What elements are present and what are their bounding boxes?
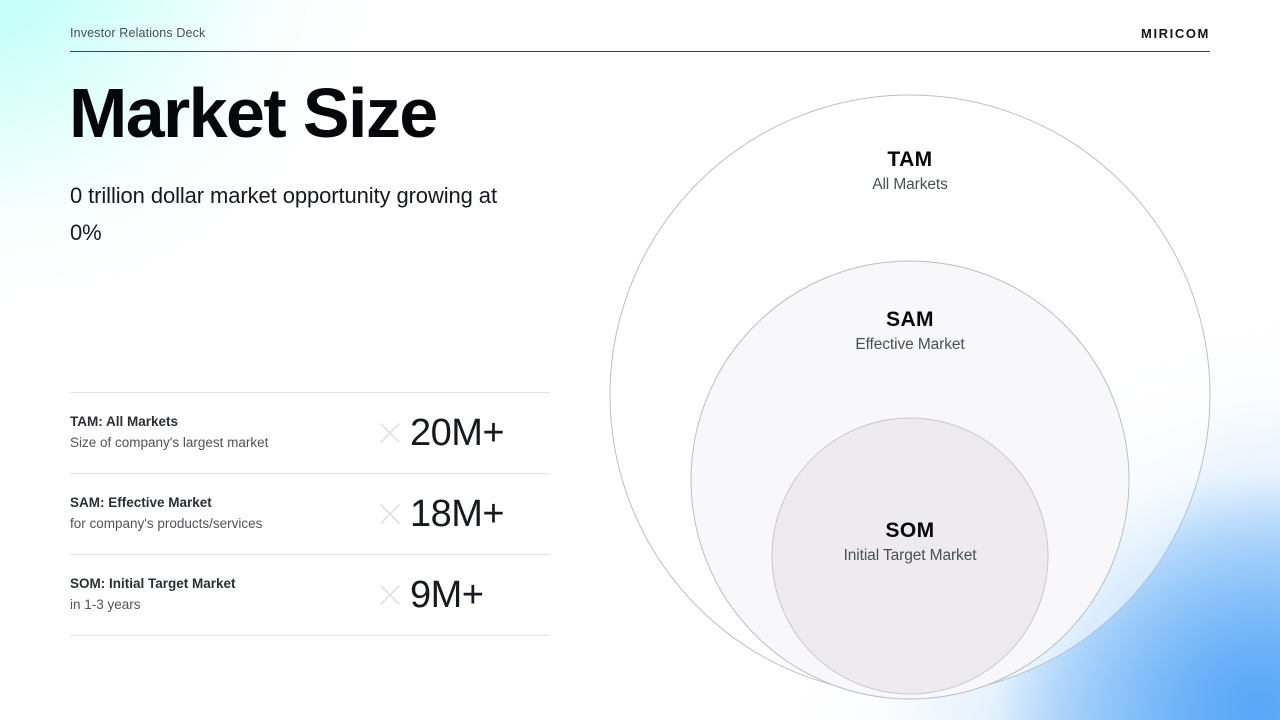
metric-value: 9M+ <box>410 576 483 614</box>
metric-label: TAM: All Markets <box>70 412 370 433</box>
metric-sublabel: Size of company's largest market <box>70 433 370 454</box>
slide-header: Investor Relations Deck MIRICOM <box>70 26 1210 54</box>
tam-label-group: TAM All Markets <box>750 146 1070 197</box>
tam-subtitle: All Markets <box>750 174 1070 196</box>
table-row: SOM: Initial Target Market in 1-3 years … <box>70 555 550 635</box>
metric-sublabel: in 1-3 years <box>70 595 370 616</box>
som-subtitle: Initial Target Market <box>750 545 1070 567</box>
metric-label: SAM: Effective Market <box>70 493 370 514</box>
metric-divider <box>70 635 550 636</box>
sam-title: SAM <box>750 306 1070 334</box>
multiply-icon <box>370 501 410 527</box>
market-size-diagram: TAM All Markets SAM Effective Market SOM… <box>592 56 1232 720</box>
multiply-icon <box>370 582 410 608</box>
som-label-group: SOM Initial Target Market <box>750 517 1070 568</box>
sam-subtitle: Effective Market <box>750 334 1070 356</box>
metric-text-group: SOM: Initial Target Market in 1-3 years <box>70 574 370 616</box>
table-row: SAM: Effective Market for company's prod… <box>70 474 550 554</box>
metric-text-group: SAM: Effective Market for company's prod… <box>70 493 370 535</box>
page-title: Market Size <box>69 78 437 148</box>
page-subtitle: 0 trillion dollar market opportunity gro… <box>70 178 500 252</box>
table-row: TAM: All Markets Size of company's large… <box>70 393 550 473</box>
metric-value: 18M+ <box>410 495 504 533</box>
metric-value: 20M+ <box>410 414 504 452</box>
tam-title: TAM <box>750 146 1070 174</box>
metric-sublabel: for company's products/services <box>70 514 370 535</box>
header-divider <box>70 51 1210 52</box>
slide: Investor Relations Deck MIRICOM Market S… <box>0 0 1280 720</box>
som-title: SOM <box>750 517 1070 545</box>
brand-logo: MIRICOM <box>1141 26 1210 41</box>
metrics-table: TAM: All Markets Size of company's large… <box>70 392 550 636</box>
metric-text-group: TAM: All Markets Size of company's large… <box>70 412 370 454</box>
deck-label: Investor Relations Deck <box>70 26 205 40</box>
multiply-icon <box>370 420 410 446</box>
sam-label-group: SAM Effective Market <box>750 306 1070 357</box>
metric-label: SOM: Initial Target Market <box>70 574 370 595</box>
